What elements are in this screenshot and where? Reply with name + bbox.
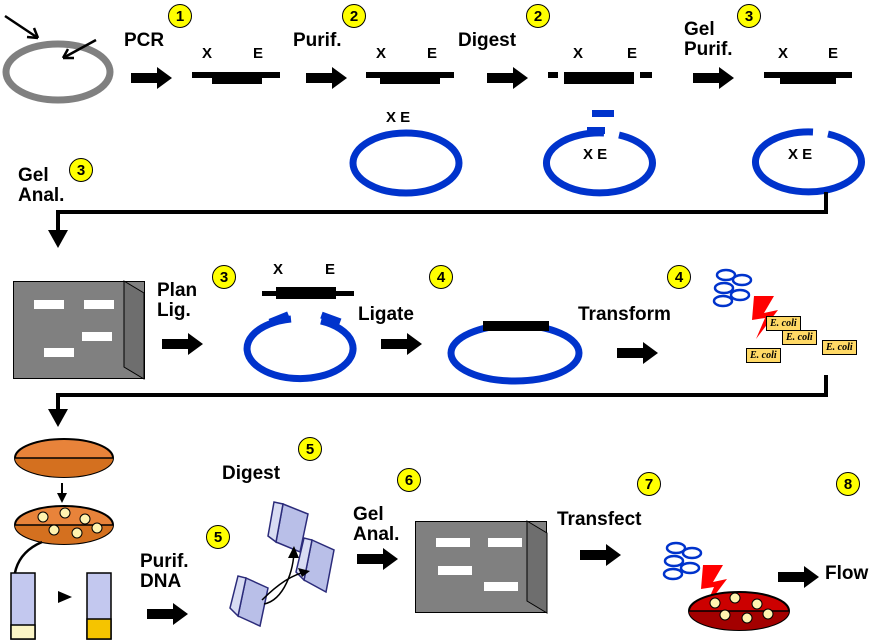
step-label-purif: Purif. (293, 31, 342, 51)
step-label-pcr: PCR (124, 31, 164, 51)
step-label-gel-purif: Gel Purif. (684, 20, 733, 60)
ecoli-cell-4: E. coli (746, 348, 781, 363)
arrow-right-1 (131, 66, 173, 90)
step-badge-4b: 4 (667, 265, 691, 289)
arrow-right-2 (306, 66, 348, 90)
step-label-purif-dna: Purif. DNA (140, 552, 189, 592)
step-badge-5a: 5 (206, 525, 230, 549)
ecoli-cell-1: E. coli (766, 316, 801, 331)
arrow-right-4 (693, 66, 735, 90)
arrow-right-3 (487, 66, 529, 90)
step-label-plan-lig: Plan Lig. (157, 281, 197, 321)
connector-row1-to-row2 (20, 192, 830, 252)
culture-tube-2 (84, 573, 114, 643)
template-dna-circle (0, 10, 130, 105)
site-label-e-1: E (253, 46, 263, 62)
cell-culture-dish (687, 589, 791, 633)
diagram-canvas: PCR 1 X E Purif. 2 X E Digest 2 (0, 0, 890, 643)
arrow-down-plate (54, 483, 70, 505)
ecoli-cell-2: E. coli (782, 330, 817, 345)
step-badge-7: 7 (637, 472, 661, 496)
arrow-right-7 (617, 341, 659, 365)
step-badge-2b: 2 (526, 4, 550, 28)
step-badge-3c: 3 (212, 265, 236, 289)
site-label-e-2: E (427, 46, 437, 62)
vector-sites-label-purified: X E (788, 147, 812, 163)
step-label-transfect: Transfect (557, 510, 641, 530)
vector-sites-label-top: X E (386, 110, 410, 126)
site-label-x-3: X (573, 46, 583, 62)
gel-image-2-corner (527, 521, 549, 613)
arrow-right-tube (58, 590, 76, 604)
step-badge-4a: 4 (429, 265, 453, 289)
site-label-x-5: X (273, 262, 283, 278)
step-badge-2a: 2 (342, 4, 366, 28)
site-label-x-4: X (778, 46, 788, 62)
arrow-right-10 (580, 543, 622, 567)
vector-sites-label-cut: X E (583, 147, 607, 163)
culture-tube-1 (8, 573, 38, 643)
agar-plate-lawn (13, 437, 115, 479)
step-label-transform: Transform (578, 305, 671, 325)
step-label-digest-1: Digest (458, 31, 516, 51)
site-label-e-5: E (325, 262, 335, 278)
arrow-right-9 (357, 547, 399, 571)
arrow-right-11 (778, 565, 820, 589)
arrow-right-6 (381, 332, 423, 356)
step-label-digest-2: Digest (222, 464, 280, 484)
digest-schematic (228, 500, 338, 630)
step-badge-6: 6 (397, 468, 421, 492)
step-badge-5b: 5 (298, 437, 322, 461)
step-badge-3b: 3 (69, 158, 93, 182)
arrow-right-8 (147, 602, 189, 626)
gel-image-1-corner (124, 281, 146, 379)
ecoli-cell-3: E. coli (822, 340, 857, 355)
step-label-ligate: Ligate (358, 305, 414, 325)
digested-insert (548, 46, 668, 84)
site-label-e-3: E (627, 46, 637, 62)
arrow-right-5 (162, 332, 204, 356)
step-badge-3a: 3 (737, 4, 761, 28)
site-label-x-2: X (376, 46, 386, 62)
step-label-flow: Flow (825, 564, 868, 584)
site-label-e-4: E (828, 46, 838, 62)
step-label-gel-anal-2: Gel Anal. (353, 505, 399, 545)
vector-plasmid-intact (346, 125, 466, 201)
step-badge-1: 1 (168, 4, 192, 28)
insert-fragment-for-ligation (262, 286, 358, 302)
site-label-x-1: X (202, 46, 212, 62)
connector-row2-to-row3 (20, 375, 830, 431)
step-badge-8: 8 (836, 472, 860, 496)
